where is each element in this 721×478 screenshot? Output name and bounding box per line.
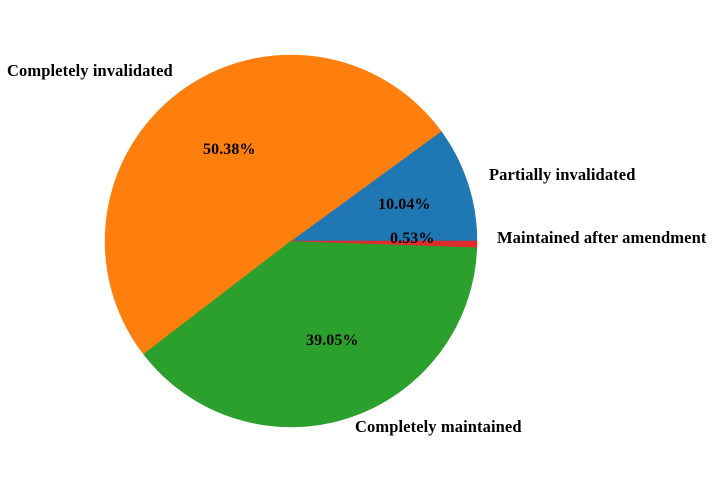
slice-percent-maintained-after-amendment: 0.53% [390,231,435,247]
pie-chart-figure: Completely invalidated Partially invalid… [0,0,721,478]
slice-label-completely-invalidated: Completely invalidated [7,63,173,80]
slice-label-partially-invalidated: Partially invalidated [489,167,635,184]
slice-percent-completely-maintained: 39.05% [306,333,359,349]
slice-percent-partially-invalidated: 10.04% [378,197,431,213]
slice-percent-completely-invalidated: 50.38% [203,142,256,158]
slice-label-maintained-after-amendment: Maintained after amendment [497,230,706,247]
slice-label-completely-maintained: Completely maintained [355,419,522,436]
